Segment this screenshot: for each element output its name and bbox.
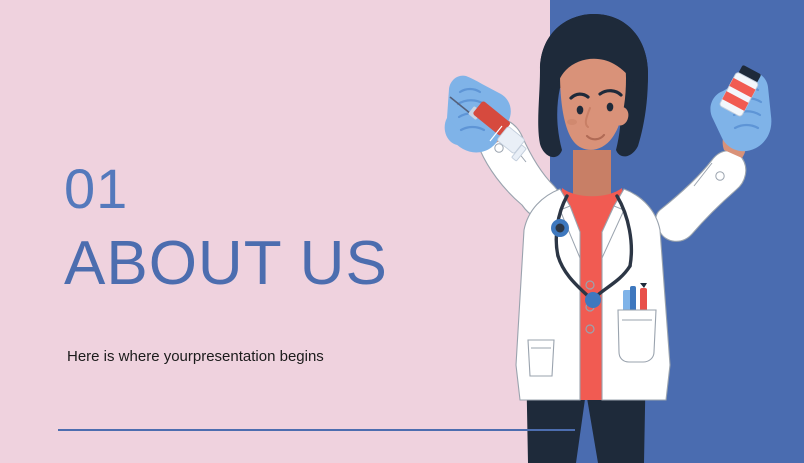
accent-divider-line — [58, 429, 575, 431]
page-title: ABOUT US — [64, 230, 388, 298]
presentation-slide: 01 ABOUT US Here is where yourpresentati… — [0, 0, 804, 463]
section-number: 01 — [64, 160, 128, 218]
background-panel-right — [550, 0, 804, 463]
section-subtitle: Here is where yourpresentation begins — [67, 347, 324, 367]
